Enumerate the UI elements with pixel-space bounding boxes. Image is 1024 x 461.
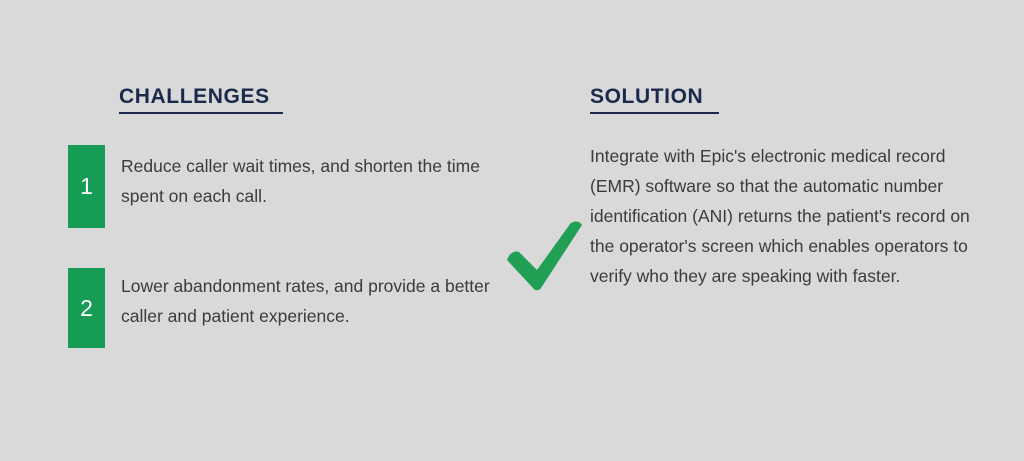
solution-text: Integrate with Epic's electronic medical…: [590, 141, 986, 291]
challenge-item: 2 Lower abandonment rates, and provide a…: [68, 268, 503, 348]
solution-heading-underline: [590, 112, 719, 114]
challenge-item: 1 Reduce caller wait times, and shorten …: [68, 145, 503, 228]
challenges-heading-label: CHALLENGES: [119, 85, 270, 108]
challenge-text: Reduce caller wait times, and shorten th…: [121, 145, 503, 211]
comparison-panel: CHALLENGES 1 Reduce caller wait times, a…: [0, 0, 1024, 461]
challenge-text: Lower abandonment rates, and provide a b…: [121, 268, 503, 331]
solution-heading: SOLUTION: [590, 84, 719, 114]
challenge-number-label: 1: [80, 173, 93, 200]
challenges-heading-underline: [119, 112, 283, 114]
challenge-number-badge: 2: [68, 268, 105, 348]
solution-heading-label: SOLUTION: [590, 85, 703, 108]
challenges-heading: CHALLENGES: [119, 84, 283, 114]
challenge-number-badge: 1: [68, 145, 105, 228]
check-icon: [500, 218, 588, 294]
challenge-number-label: 2: [80, 295, 93, 322]
